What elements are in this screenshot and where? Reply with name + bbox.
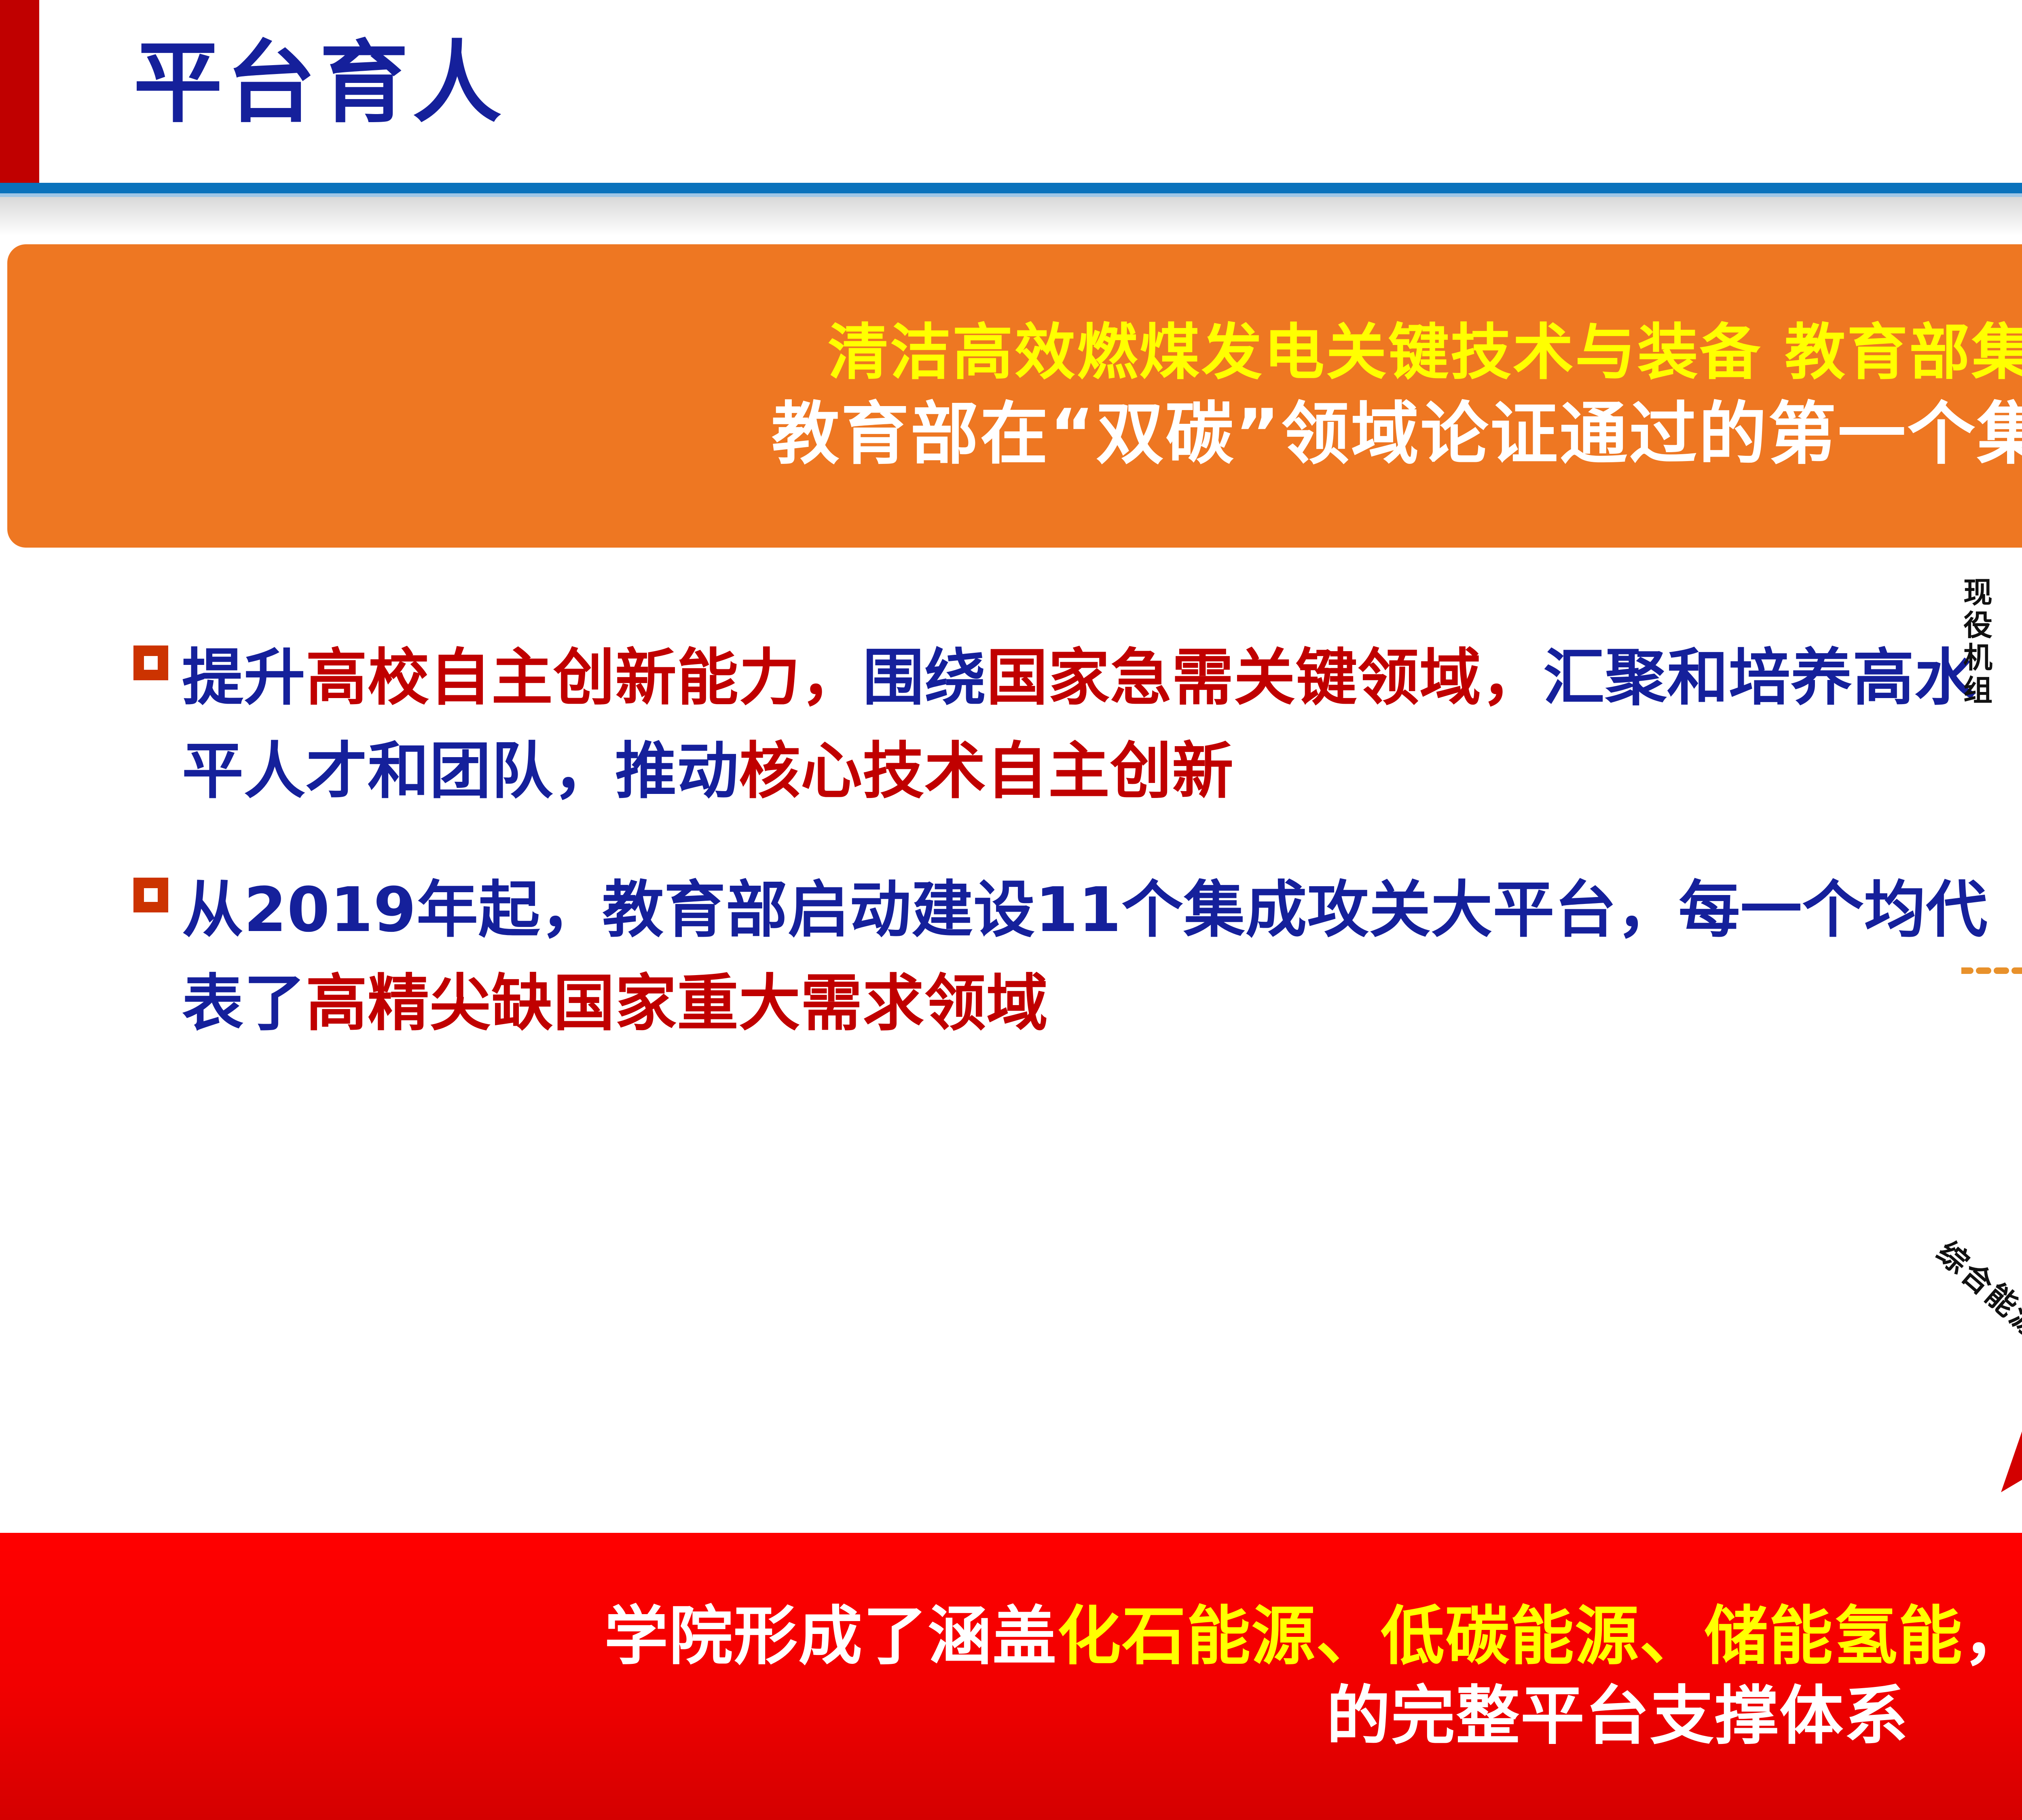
bullet-square-icon xyxy=(133,878,168,912)
bullet-list: 提升高校自主创新能力，围绕国家急需关键领域，汇聚和培养高水平人才和团队，推动核心… xyxy=(133,631,2022,1095)
bullet-2-seg-1: 高精尖缺国家重大需求领域 xyxy=(306,967,1048,1039)
header-blue-rule-shadow xyxy=(0,193,2022,197)
summary-line-1: 学院形成了涵盖化石能源、低碳能源、储能氢能，服务国家“双碳”战略 xyxy=(604,1597,2022,1677)
bullet-1-seg-1: 高校自主创新能力， xyxy=(306,642,863,713)
list-item: 提升高校自主创新能力，围绕国家急需关键领域，汇聚和培养高水平人才和团队，推动核心… xyxy=(133,631,2022,818)
summary-seg-1: 化石能源、低碳能源、储能氢能 xyxy=(1057,1599,1963,1674)
bullet-1-seg-0: 提升 xyxy=(182,642,306,713)
cube-diagram-graphics xyxy=(1961,566,2022,1533)
header-blue-rule xyxy=(0,183,2022,193)
bullet-1-seg-5: 核心技术自主创新 xyxy=(739,735,1234,807)
bullet-1-seg-3: 国家急需关键领域， xyxy=(986,642,1543,713)
summary-line-2: 的完整平台支撑体系 xyxy=(1326,1676,1909,1757)
page-title: 平台育人 xyxy=(133,38,505,127)
summary-seg-0: 学院形成了涵盖 xyxy=(604,1599,1057,1674)
bullet-square-icon xyxy=(133,645,168,680)
header-red-sidebar xyxy=(0,0,39,183)
three-axis-cube-diagram: 现役机组 目标 现 状 下一代煤电 综合能源系统 难以支撑新能源发展需求 难以实… xyxy=(1961,566,2022,1533)
platform-banner: 清洁高效燃煤发电关键技术与装备 教育部集成攻关大平台 教育部在“双碳”领域论证通… xyxy=(7,244,2022,548)
bullet-1-text: 提升高校自主创新能力，围绕国家急需关键领域，汇聚和培养高水平人才和团队，推动核心… xyxy=(182,631,2022,818)
slide-header: 平台育人 1858 华北电力大学 NORTH CHINA ELECTRIC PO… xyxy=(0,0,2022,186)
header-gloss xyxy=(0,197,2022,235)
banner-line-2: 教育部在“双碳”领域论证通过的第一个集成攻关大平台 xyxy=(772,394,2022,474)
y-axis-label: 现役机组 xyxy=(1963,576,1992,707)
bullet-2-text: 从2019年起，教育部启动建设11个集成攻关大平台，每一个均代表了高精尖缺国家重… xyxy=(182,863,2022,1050)
summary-banner: 学院形成了涵盖化石能源、低碳能源、储能氢能，服务国家“双碳”战略 的完整平台支撑… xyxy=(0,1533,2022,1820)
bullet-1-seg-2: 围绕 xyxy=(863,642,986,713)
summary-seg-2: ，服务国家“双碳”战略 xyxy=(1963,1599,2022,1674)
banner-line-1: 清洁高效燃煤发电关键技术与装备 教育部集成攻关大平台 xyxy=(828,318,2022,388)
list-item: 从2019年起，教育部启动建设11个集成攻关大平台，每一个均代表了高精尖缺国家重… xyxy=(133,863,2022,1050)
